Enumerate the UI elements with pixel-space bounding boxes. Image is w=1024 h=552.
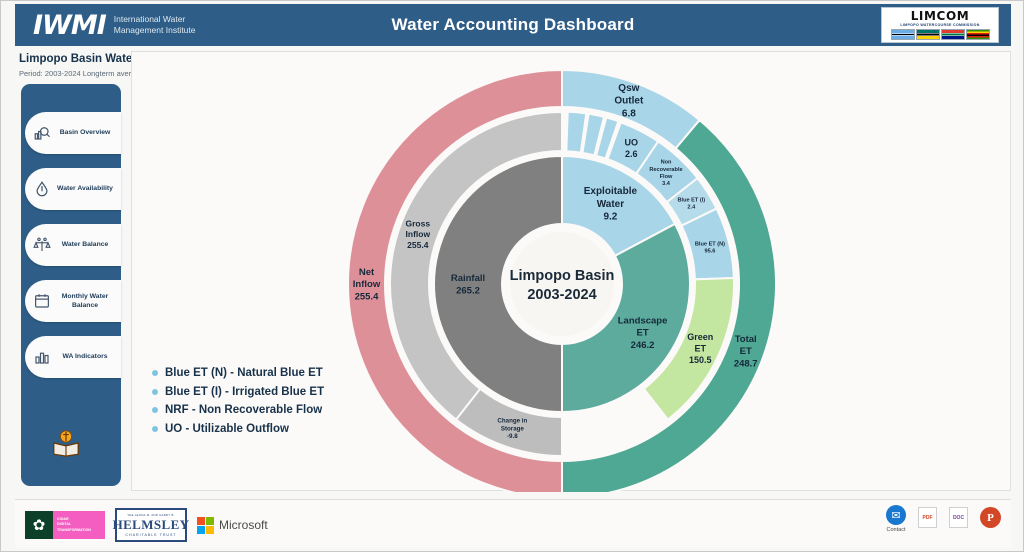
sidebar-item-label: Water Balance (53, 240, 121, 249)
limcom-wordmark: LIMCOM (911, 10, 970, 22)
chart-card: Rainfall265.2ExploitableWater9.2Landscap… (131, 51, 1011, 491)
legend-dot-icon (152, 370, 158, 376)
envelope-icon: ✉ (886, 505, 906, 525)
sidebar-item-label: WA Indicators (53, 352, 121, 361)
cgiar-leaf-icon: ✿ (25, 511, 53, 539)
iwmi-logo: IWMI International Water Management Inst… (33, 10, 196, 41)
sidebar: Basin Overview Water Availability Water … (21, 84, 121, 486)
basin-overview-icon (31, 122, 53, 144)
flag-botswana (891, 29, 915, 40)
dashboard-root: IWMI International Water Management Inst… (0, 0, 1024, 552)
limcom-flags (891, 29, 990, 40)
legend-item-label: Blue ET (I) - Irrigated Blue ET (165, 386, 324, 398)
cgiar-logo: ✿ CGIAR DIGITAL TRANSFORMATION (25, 511, 105, 539)
footer-actions: ✉ Contact PDF DOC P (886, 505, 1001, 533)
sidebar-item-label: Basin Overview (53, 128, 121, 137)
water-balance-icon (31, 234, 53, 256)
app-header: IWMI International Water Management Inst… (15, 4, 1011, 46)
legend-item: UO - Utilizable Outflow (152, 423, 324, 435)
ppt-label: P (987, 512, 994, 524)
legend-item-label: Blue ET (N) - Natural Blue ET (165, 367, 323, 379)
doc-document-icon[interactable]: DOC (949, 507, 968, 528)
center-label-line2: 2003-2024 (527, 287, 596, 303)
iwmi-wordmark: IWMI (33, 10, 106, 41)
sunburst-center-hub (510, 232, 614, 336)
helmsley-bottom-line: CHARITABLE TRUST (125, 533, 176, 537)
book-emblem-icon (51, 428, 81, 458)
helmsley-logo: THE LEONA M. AND HARRY B. HELMSLEY CHARI… (115, 508, 187, 542)
microsoft-logo: Microsoft (197, 517, 268, 534)
legend-item-label: UO - Utilizable Outflow (165, 423, 289, 435)
sidebar-item-water-balance[interactable]: Water Balance (25, 224, 121, 266)
limcom-subtitle: LIMPOPO WATERCOURSE COMMISSION (900, 23, 979, 27)
helmsley-wordmark: HELMSLEY (113, 517, 190, 533)
sidebar-item-monthly-water-balance[interactable]: Monthly Water Balance (25, 280, 121, 322)
cgiar-wordmark: CGIAR DIGITAL TRANSFORMATION (53, 511, 105, 539)
water-drop-icon (31, 178, 53, 200)
microsoft-wordmark: Microsoft (219, 518, 268, 532)
chart-legend: Blue ET (N) - Natural Blue ET Blue ET (I… (152, 367, 324, 435)
iwmi-org-name: International Water Management Institute (114, 14, 196, 35)
sidebar-item-basin-overview[interactable]: Basin Overview (25, 112, 121, 154)
microsoft-squares-icon (197, 517, 214, 534)
app-footer: ✿ CGIAR DIGITAL TRANSFORMATION THE LEONA… (15, 499, 1011, 547)
legend-dot-icon (152, 426, 158, 432)
panel-subtitle: Period: 2003-2024 Longterm average (19, 69, 144, 78)
legend-item: Blue ET (I) - Irrigated Blue ET (152, 386, 324, 398)
legend-dot-icon (152, 389, 158, 395)
legend-dot-icon (152, 407, 158, 413)
iwmi-org-line1: International Water (114, 14, 196, 25)
sunburst-segment-filler (567, 112, 586, 152)
sidebar-item-wa-indicators[interactable]: WA Indicators (25, 336, 121, 378)
sunburst-segment-label: GrossInflow255.4 (406, 218, 431, 250)
flag-south-africa (941, 29, 965, 40)
sidebar-item-water-availability[interactable]: Water Availability (25, 168, 121, 210)
calendar-icon (31, 290, 53, 312)
pdf-document-icon[interactable]: PDF (918, 507, 937, 528)
contact-label: Contact (887, 527, 906, 533)
contact-button[interactable]: ✉ Contact (886, 505, 906, 533)
pdf-label: PDF (923, 515, 933, 521)
iwmi-org-line2: Management Institute (114, 25, 196, 36)
doc-label: DOC (953, 515, 964, 521)
bar-chart-icon (31, 346, 53, 368)
flag-zimbabwe (966, 29, 990, 40)
sunburst-segment-label: UO2.6 (624, 137, 638, 159)
sidebar-item-label: Monthly Water Balance (53, 292, 121, 310)
partner-logos: ✿ CGIAR DIGITAL TRANSFORMATION THE LEONA… (25, 508, 268, 542)
limcom-logo: LIMCOM LIMPOPO WATERCOURSE COMMISSION (881, 7, 999, 43)
center-label-line1: Limpopo Basin (510, 268, 615, 284)
legend-item-label: NRF - Non Recoverable Flow (165, 404, 322, 416)
powerpoint-icon[interactable]: P (980, 507, 1001, 528)
legend-item: Blue ET (N) - Natural Blue ET (152, 367, 324, 379)
sidebar-item-label: Water Availability (53, 184, 121, 193)
cgiar-line3: TRANSFORMATION (57, 528, 105, 533)
legend-item: NRF - Non Recoverable Flow (152, 404, 324, 416)
flag-mozambique (916, 29, 940, 40)
